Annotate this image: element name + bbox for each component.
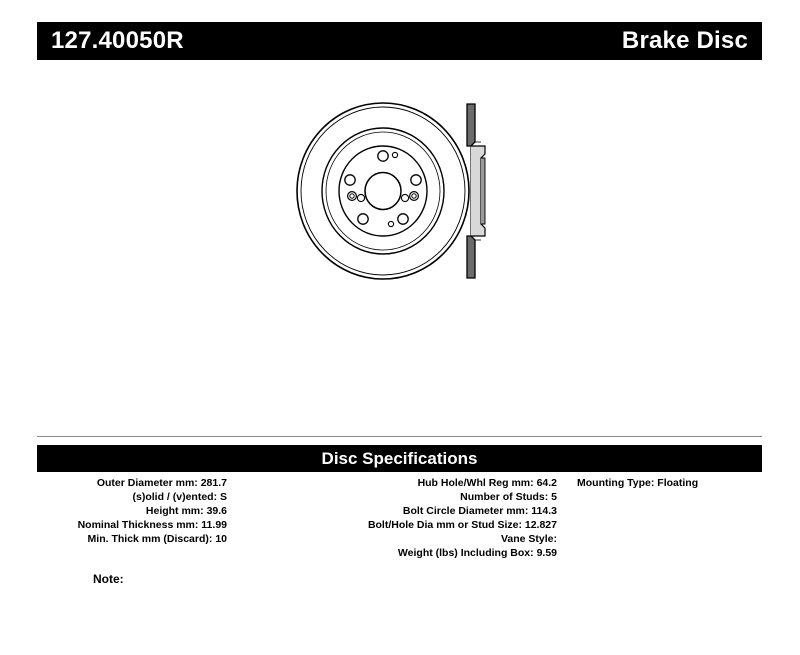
brake-rotor-front-view xyxy=(297,103,469,279)
spec-label: Bolt Circle Diameter mm: xyxy=(403,505,531,517)
spec-section-header: Disc Specifications xyxy=(37,445,762,472)
spec-body: Outer Diameter mm: 281.7 (s)olid / (v)en… xyxy=(37,476,762,576)
note-area: Note: xyxy=(93,570,493,590)
spec-row: Height mm: 39.6 xyxy=(37,504,227,518)
spec-row: Bolt/Hole Dia mm or Stud Size: 12.827 xyxy=(237,518,557,532)
spec-row: Weight (lbs) Including Box: 9.59 xyxy=(237,546,557,560)
spec-row: Vane Style: xyxy=(237,532,557,546)
spec-label: Weight (lbs) Including Box: xyxy=(398,547,537,559)
part-number: 127.40050R xyxy=(51,29,184,53)
spec-row: Min. Thick mm (Discard): 10 xyxy=(37,532,227,546)
spec-label: Mounting Type: xyxy=(577,477,657,489)
spec-value: 12.827 xyxy=(525,519,557,531)
product-title-bar: 127.40050R Brake Disc xyxy=(37,22,762,60)
spec-row: (s)olid / (v)ented: S xyxy=(37,490,227,504)
spec-row: Bolt Circle Diameter mm: 114.3 xyxy=(237,504,557,518)
spec-row: Nominal Thickness mm: 11.99 xyxy=(37,518,227,532)
note-label: Note: xyxy=(93,572,124,586)
spec-value: 10 xyxy=(215,533,227,545)
spec-section-title: Disc Specifications xyxy=(322,450,478,467)
spec-label: Min. Thick mm (Discard): xyxy=(88,533,216,545)
spec-column-middle: Hub Hole/Whl Reg mm: 64.2 Number of Stud… xyxy=(237,476,557,560)
spec-row: Hub Hole/Whl Reg mm: 64.2 xyxy=(237,476,557,490)
spec-value: 9.59 xyxy=(537,547,557,559)
spec-label: (s)olid / (v)ented: xyxy=(132,491,220,503)
spec-section-divider xyxy=(37,436,762,437)
spec-value: 64.2 xyxy=(537,477,557,489)
spec-label: Hub Hole/Whl Reg mm: xyxy=(418,477,537,489)
spec-label: Outer Diameter mm: xyxy=(97,477,201,489)
spec-row: Outer Diameter mm: 281.7 xyxy=(37,476,227,490)
spec-label: Height mm: xyxy=(146,505,207,517)
spec-label: Nominal Thickness mm: xyxy=(78,519,202,531)
product-type-label: Brake Disc xyxy=(622,29,748,53)
spec-value: 5 xyxy=(551,491,557,503)
spec-value: Floating xyxy=(657,477,698,489)
spec-label: Vane Style: xyxy=(501,533,557,545)
spec-label: Number of Studs: xyxy=(460,491,551,503)
spec-column-left: Outer Diameter mm: 281.7 (s)olid / (v)en… xyxy=(37,476,227,546)
spec-column-right: Mounting Type: Floating xyxy=(577,476,762,490)
spec-value: 11.99 xyxy=(201,519,227,531)
spec-value: 39.6 xyxy=(207,505,227,517)
spec-row: Number of Studs: 5 xyxy=(237,490,557,504)
product-illustration xyxy=(295,98,525,293)
spec-label: Bolt/Hole Dia mm or Stud Size: xyxy=(368,519,525,531)
spec-value: 114.3 xyxy=(531,505,557,517)
spec-row: Mounting Type: Floating xyxy=(577,476,762,490)
spec-value: S xyxy=(220,491,227,503)
spec-value: 281.7 xyxy=(201,477,227,489)
